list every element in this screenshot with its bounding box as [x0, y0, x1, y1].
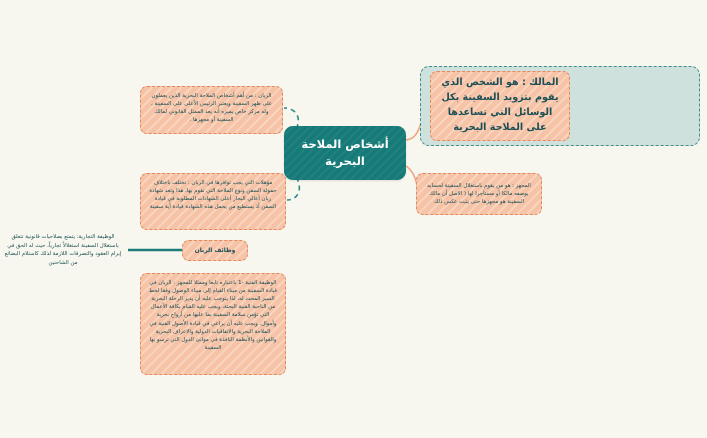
owner-definition-text: المالك : هو الشخص الذي يقوم بتزويد السفي…	[438, 76, 562, 135]
equipper-definition-node[interactable]: المجهز : هو من يقوم باستغلال السفينة لحس…	[416, 173, 542, 215]
central-node[interactable]: أشخاص الملاحة البحرية	[284, 126, 406, 180]
captain-functions-label[interactable]: وظائف الربان	[182, 240, 248, 261]
captain-commercial-function-text: الوظيفة التجارية: يتمتع بصلاحيات قانونية…	[5, 234, 122, 266]
captain-commercial-function-node[interactable]: الوظيفة التجارية: يتمتع بصلاحيات قانونية…	[4, 233, 122, 268]
central-node-label: أشخاص الملاحة البحرية	[290, 136, 400, 169]
mindmap-canvas: أشخاص الملاحة البحرية المسؤولية المحددة …	[0, 0, 707, 438]
owner-definition-node[interactable]: المالك : هو الشخص الذي يقوم بتزويد السفي…	[430, 71, 570, 141]
captain-functions-label-text: وظائف الربان	[195, 246, 236, 255]
captain-technical-function-node[interactable]: الوظيفة الفنية -1 باعتباره تابعا وممثلا …	[140, 273, 286, 375]
captain-definition-text: الربان : من أهم أشخاص الملاحة البحرية ال…	[151, 93, 272, 123]
equipper-definition-text: المجهز : هو من يقوم باستغلال السفينة لحس…	[424, 182, 534, 206]
captain-technical-function-text: الوظيفة الفنية -1 باعتباره تابعا وممثلا …	[149, 280, 277, 351]
captain-qualifications-text: مؤهلات التي يجب توافرها في الربان : تختل…	[149, 180, 276, 210]
captain-definition-node[interactable]: الربان : من أهم أشخاص الملاحة البحرية ال…	[140, 86, 283, 134]
captain-qualifications-node[interactable]: مؤهلات التي يجب توافرها في الربان : تختل…	[140, 173, 286, 230]
